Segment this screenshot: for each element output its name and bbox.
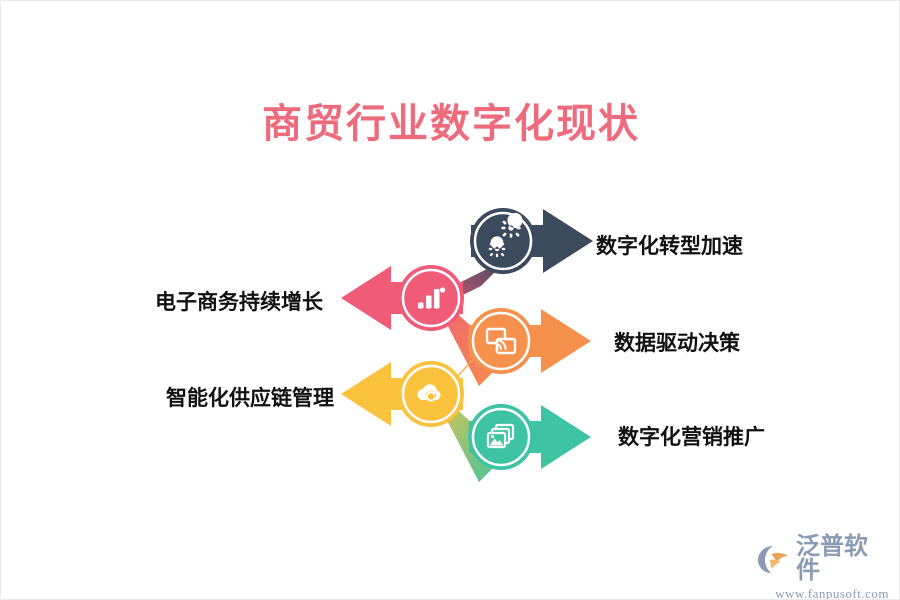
node-smart-supply-chain[interactable] (398, 361, 464, 427)
fanpu-logo-mark (757, 544, 791, 574)
logo-brand-name: 泛普软件 (796, 535, 889, 583)
node-ecommerce-growth[interactable] (398, 265, 464, 331)
watermark-logo: 泛普软件 www.fanpusoft.com (757, 535, 889, 587)
label-smart-supply-chain: 智能化供应链管理 (166, 382, 334, 412)
label-digital-transformation: 数字化转型加速 (596, 230, 743, 260)
infographic-canvas: 商贸行业数字化现状 (0, 0, 900, 600)
label-digital-marketing: 数字化营销推广 (618, 421, 765, 451)
node-digital-transformation[interactable] (470, 208, 536, 274)
label-ecommerce-growth: 电子商务持续增长 (155, 286, 323, 316)
zigzag-arrow-diagram (1, 1, 900, 600)
label-data-driven-decision: 数据驱动决策 (614, 327, 740, 357)
logo-url: www.fanpusoft.com (757, 586, 889, 600)
node-digital-marketing[interactable] (468, 404, 534, 470)
node-data-driven-decision[interactable] (468, 308, 534, 374)
